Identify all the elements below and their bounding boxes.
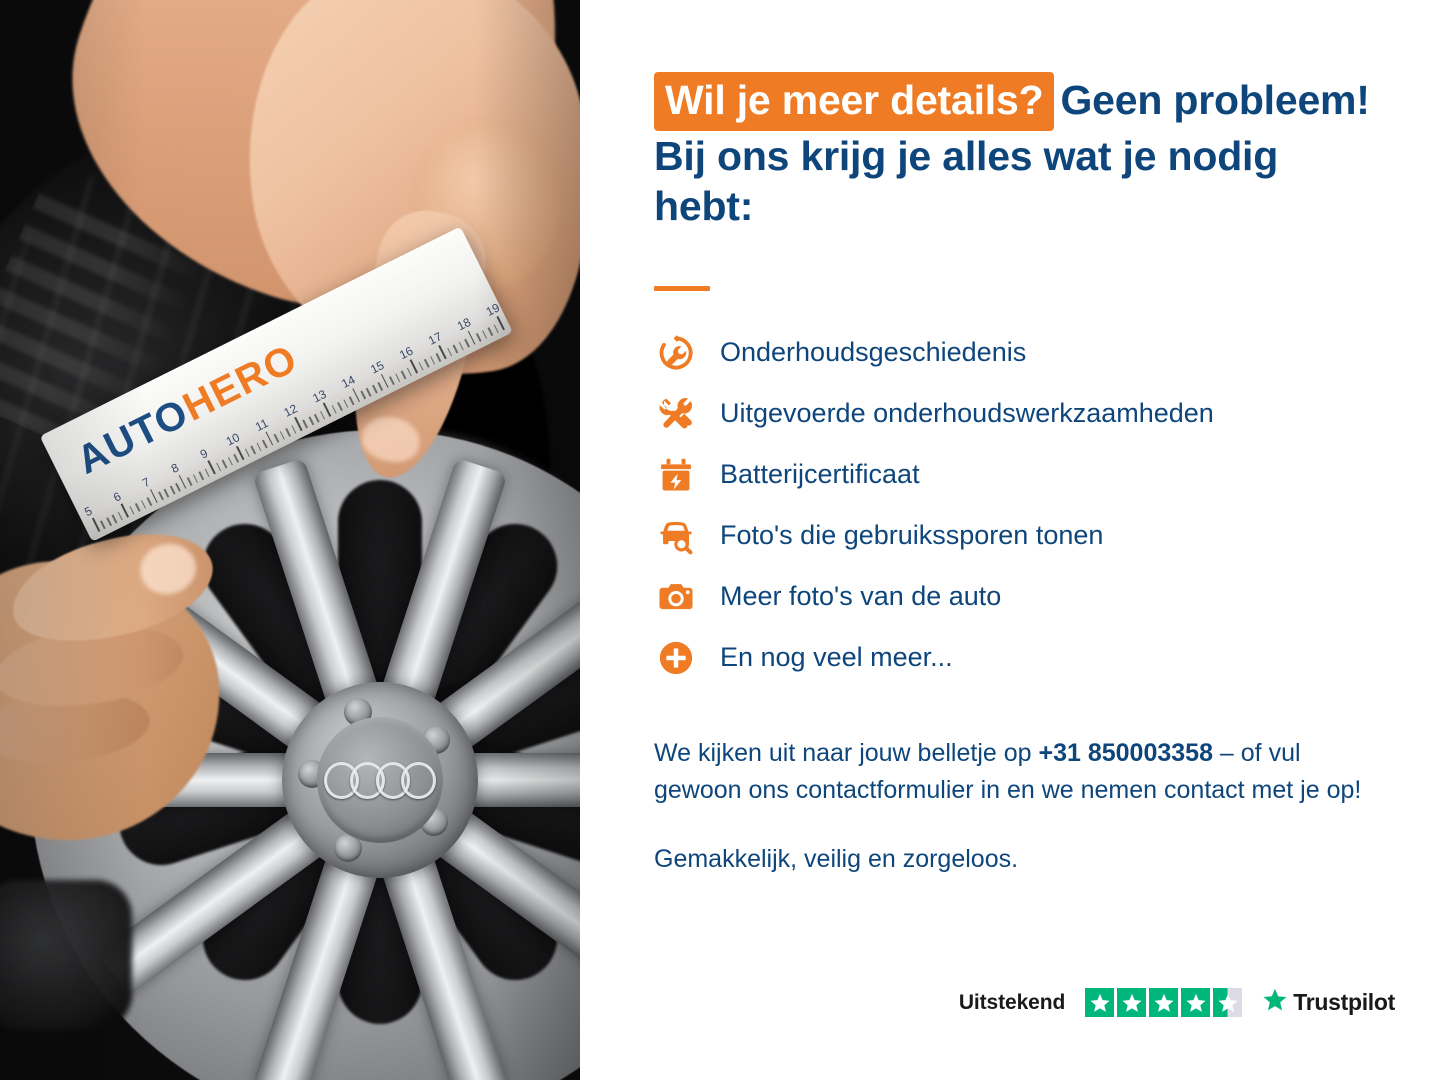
ruler-tick-minor	[262, 440, 267, 449]
trustpilot-brand-text: Trustpilot	[1293, 989, 1395, 1016]
ruler-number: 12	[281, 401, 299, 419]
orange-divider	[654, 286, 710, 291]
ruler-number: 5	[82, 504, 94, 520]
camera-icon	[654, 575, 698, 619]
ruler-number: 17	[426, 329, 444, 347]
ruler-number: 11	[253, 416, 270, 434]
ruler-number: 8	[169, 460, 181, 476]
car-inspection-icon	[654, 514, 698, 558]
trustpilot-widget[interactable]: Uitstekend Trustpilot	[959, 987, 1395, 1018]
ruler-tick-minor	[112, 515, 117, 524]
feature-item-wear-photos: Foto's die gebruikssporen tonen	[654, 514, 1380, 558]
ruler-tick-major	[352, 388, 360, 402]
ruler-number: 9	[198, 446, 210, 462]
headline-line2: Bij ons krijg je alles wat je nodig hebt…	[654, 133, 1278, 229]
ruler-tick-minor	[459, 342, 464, 351]
ruler-tick-minor	[245, 448, 250, 457]
ruler-tick-minor	[158, 492, 163, 501]
ruler-tick-minor	[187, 477, 192, 486]
feature-label: Batterijcertificaat	[720, 458, 920, 492]
feature-label: Onderhoudsgeschiedenis	[720, 336, 1026, 370]
ruler-tick-minor	[436, 353, 441, 362]
ruler-tick-minor	[199, 471, 204, 480]
ruler-tick-minor	[343, 399, 348, 408]
ruler-tick-major	[121, 503, 129, 517]
ruler-tick-minor	[389, 376, 394, 385]
feature-item-maintenance-history: Onderhoudsgeschiedenis	[654, 331, 1380, 375]
ruler-tick-minor	[222, 460, 227, 469]
ruler-tick-minor	[401, 371, 406, 380]
ruler-tick-major	[236, 446, 244, 460]
ruler-tick-major	[265, 431, 273, 445]
ruler-tick-minor	[227, 457, 232, 466]
ruler-number: 13	[310, 387, 328, 405]
ruler-number: 15	[368, 358, 386, 376]
plus-circle-icon	[654, 636, 698, 680]
feature-item-battery-certificate: Batterijcertificaat	[654, 453, 1380, 497]
ruler-tick-minor	[256, 443, 261, 452]
ruler-tick-minor	[407, 368, 412, 377]
ruler-tick-minor	[424, 359, 429, 368]
ruler-tick-minor	[193, 474, 198, 483]
ruler-tick-minor	[164, 489, 169, 498]
ruler-number: 14	[339, 372, 357, 390]
ruler-tick-minor	[378, 382, 383, 391]
ruler-tick-major	[179, 475, 187, 489]
ruler-tick-minor	[418, 362, 423, 371]
ruler-tick-minor	[430, 356, 435, 365]
ruler-tick-minor	[372, 385, 377, 394]
trustpilot-logo[interactable]: Trustpilot	[1262, 987, 1395, 1018]
ruler-tick-minor	[453, 345, 458, 354]
ruler-tick-major	[92, 518, 100, 532]
wheel-hub	[282, 682, 478, 878]
ruler-tick-minor	[279, 431, 284, 440]
feature-item-more-photos: Meer foto's van de auto	[654, 575, 1380, 619]
ruler-tick-minor	[100, 520, 105, 529]
ruler-tick-minor	[216, 463, 221, 472]
ruler-tick-major	[496, 316, 504, 330]
trustpilot-stars	[1085, 988, 1242, 1017]
ruler-tick-minor	[233, 454, 238, 463]
feature-label: En nog veel meer...	[720, 641, 953, 675]
feature-item-maintenance-work: Uitgevoerde onderhoudswerkzaamheden	[654, 392, 1380, 436]
ruler-tick-minor	[147, 497, 152, 506]
ruler-tick-minor	[291, 425, 296, 434]
ruler-tick-minor	[360, 391, 365, 400]
ruler-tick-minor	[308, 417, 313, 426]
ruler-tick-major	[294, 417, 302, 431]
ruler-tick-minor	[447, 347, 452, 356]
ruler-tick-minor	[285, 428, 290, 437]
trustpilot-star-5	[1213, 988, 1242, 1017]
ruler-tick-minor	[395, 373, 400, 382]
promo-banner: AUTOHERO 5678910111213141516171819 Wil j…	[0, 0, 1440, 1080]
feature-list: Onderhoudsgeschiedenis Uitgevoerde o	[654, 331, 1380, 680]
ruler-tick-minor	[135, 503, 140, 512]
ruler-tick-minor	[482, 330, 487, 339]
trustpilot-star-3	[1149, 988, 1178, 1017]
audi-rings-icon	[324, 763, 436, 797]
ruler-tick-minor	[476, 333, 481, 342]
ruler-tick-minor	[303, 419, 308, 428]
phone-number[interactable]: +31 850003358	[1038, 739, 1213, 767]
ruler-tick-minor	[314, 414, 319, 423]
ruler-number: 6	[111, 489, 123, 505]
ruler-tick-major	[323, 403, 331, 417]
ruler-tick-minor	[488, 327, 493, 336]
ruler-number: 16	[397, 344, 415, 362]
ruler-tick-minor	[493, 324, 498, 333]
hero-photo: AUTOHERO 5678910111213141516171819	[0, 0, 580, 1080]
ruler-tick-major	[207, 460, 215, 474]
feature-label: Meer foto's van de auto	[720, 580, 1001, 614]
feature-label: Uitgevoerde onderhoudswerkzaamheden	[720, 397, 1214, 431]
feature-label: Foto's die gebruikssporen tonen	[720, 519, 1103, 553]
headline-highlight: Wil je meer details?	[654, 72, 1054, 131]
ruler-tick-minor	[320, 411, 325, 420]
trustpilot-star-1	[1085, 988, 1114, 1017]
ruler-tick-minor	[175, 483, 180, 492]
content-panel: Wil je meer details?Geen probleem! Bij o…	[580, 0, 1440, 1080]
battery-icon	[654, 453, 698, 497]
ruler-tick-minor	[251, 445, 256, 454]
trustpilot-star-icon	[1262, 987, 1288, 1018]
ruler-tick-major	[150, 489, 158, 503]
headline-rest: Geen probleem!	[1060, 77, 1369, 123]
ruler-tick-minor	[349, 396, 354, 405]
ruler-tick-major	[381, 374, 389, 388]
contact-paragraph: We kijken uit naar jouw belletje op +31 …	[654, 735, 1380, 809]
page-title: Wil je meer details?Geen probleem! Bij o…	[654, 72, 1380, 231]
wheel-center-cap	[317, 717, 443, 843]
closing-paragraph: Gemakkelijk, veilig en zorgeloos.	[654, 841, 1380, 878]
ruler-tick-minor	[337, 402, 342, 411]
ruler-tick-minor	[464, 339, 469, 348]
ruler-tick-major	[439, 345, 447, 359]
ruler-tick-minor	[204, 468, 209, 477]
ruler-number: 7	[140, 475, 152, 491]
ruler-tick-major	[468, 331, 476, 345]
ruler-number: 18	[455, 315, 473, 333]
ruler-tick-minor	[141, 500, 146, 509]
ruler-tick-minor	[106, 517, 111, 526]
ruler-tick-minor	[332, 405, 337, 414]
tools-icon	[654, 392, 698, 436]
trustpilot-star-4	[1181, 988, 1210, 1017]
ruler-tick-minor	[274, 434, 279, 443]
ruler-tick-minor	[170, 486, 175, 495]
ruler-tick-minor	[129, 506, 134, 515]
ruler-tick-minor	[118, 512, 123, 521]
trustpilot-star-2	[1117, 988, 1146, 1017]
photo-stage: AUTOHERO 5678910111213141516171819	[0, 0, 580, 1080]
feature-item-more: En nog veel meer...	[654, 636, 1380, 680]
ruler-number: 10	[224, 430, 242, 448]
brake-caliper-shadow	[0, 880, 132, 1030]
trustpilot-rating-label: Uitstekend	[959, 991, 1065, 1015]
ruler-tick-major	[410, 359, 418, 373]
maintenance-history-icon	[654, 331, 698, 375]
ruler-tick-minor	[366, 388, 371, 397]
contact-lead-before: We kijken uit naar jouw belletje op	[654, 739, 1038, 767]
